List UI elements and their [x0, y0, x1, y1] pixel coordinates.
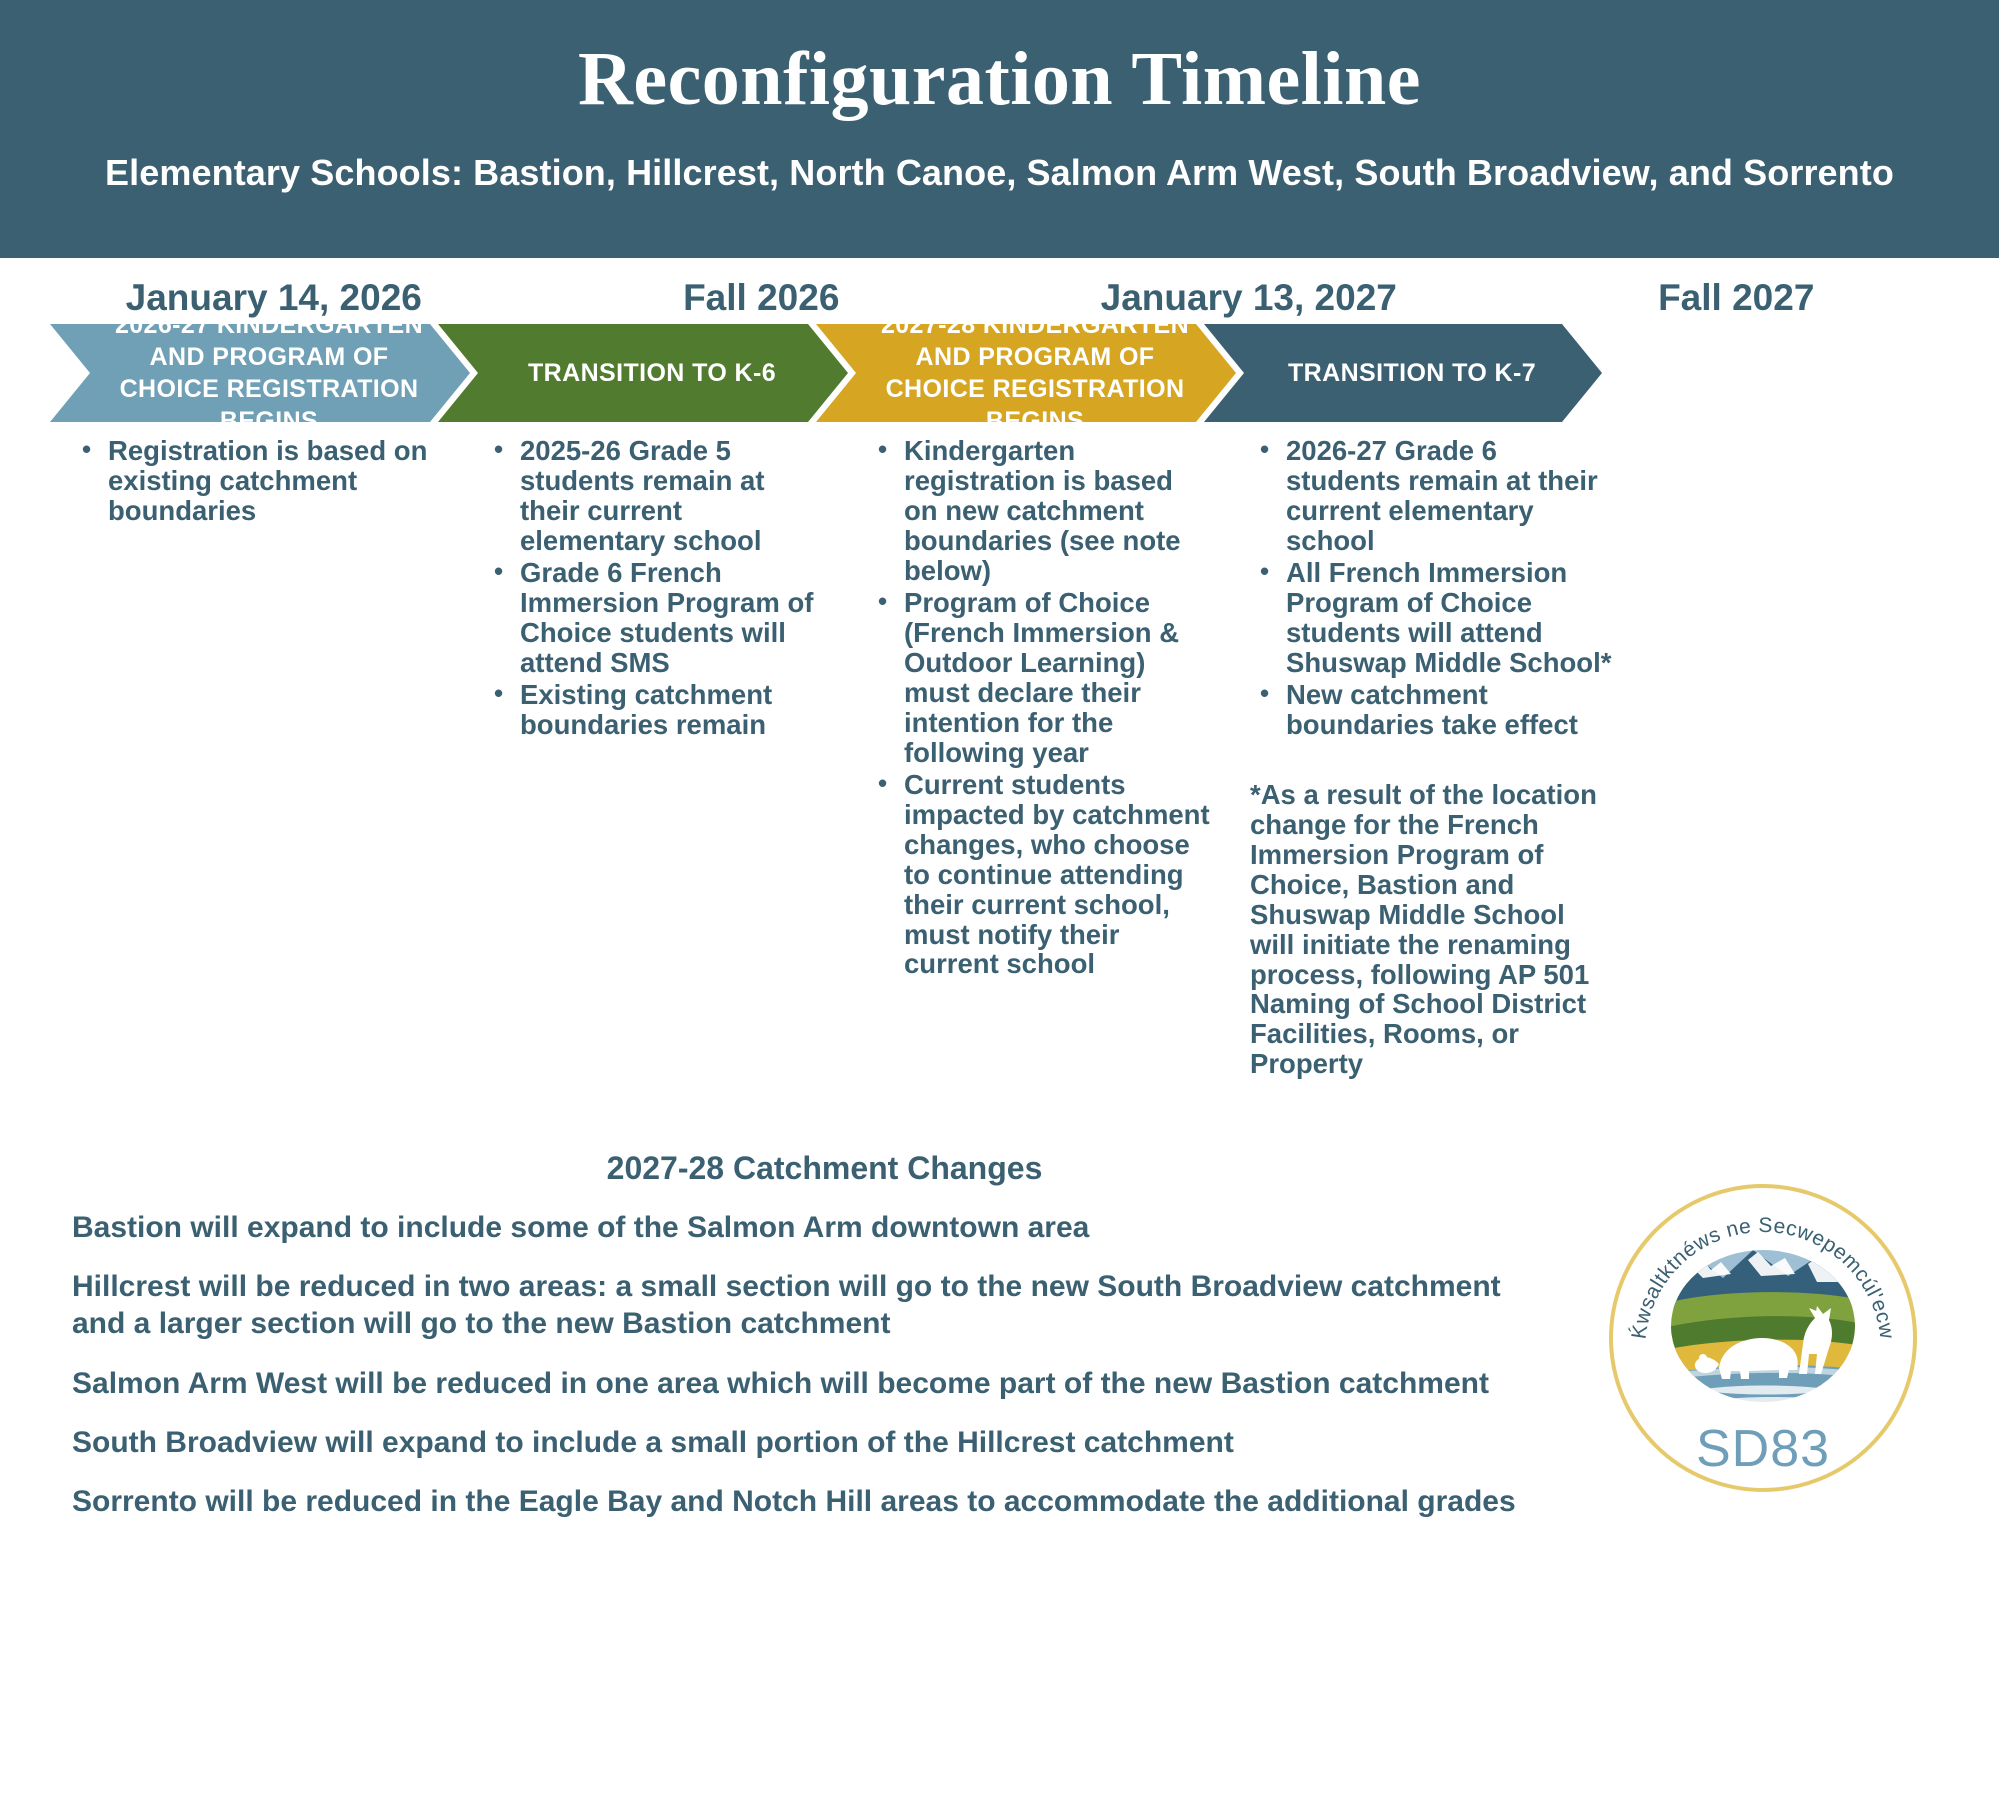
- list-item: Kindergarten registration is based on ne…: [868, 436, 1212, 586]
- list-item: Registration is based on existing catchm…: [72, 436, 444, 526]
- timeline-bullets-3: Kindergarten registration is based on ne…: [868, 436, 1212, 979]
- timeline-dates-row: January 14, 2026 Fall 2026 January 13, 2…: [30, 258, 1980, 316]
- list-item: Grade 6 French Immersion Program of Choi…: [484, 558, 828, 678]
- timeline-columns: Registration is based on existing catchm…: [0, 436, 1999, 1079]
- timeline-arrow-label-2: TRANSITION TO K-6: [528, 357, 776, 389]
- timeline-arrow-stage-2: TRANSITION TO K-6: [438, 324, 848, 422]
- list-item: All French Immersion Program of Choice s…: [1250, 558, 1614, 678]
- catchment-item: South Broadview will expand to include a…: [72, 1424, 1560, 1461]
- list-item: New catchment boundaries take effect: [1250, 680, 1614, 740]
- timeline-bullets-2: 2025-26 Grade 5 students remain at their…: [484, 436, 828, 740]
- timeline-date-3: January 13, 2027: [1005, 279, 1493, 316]
- timeline-date-2: Fall 2026: [518, 279, 1006, 316]
- timeline-arrows-row: 2026-27 KINDERGARTEN AND PROGRAM OF CHOI…: [0, 324, 1999, 422]
- list-item: Program of Choice (French Immersion & Ou…: [868, 588, 1212, 768]
- list-item: 2025-26 Grade 5 students remain at their…: [484, 436, 828, 556]
- sd83-logo-icon: Ḱwsaltktnéws ne Secwepemcúl'ecw SD83: [1603, 1178, 1923, 1498]
- timeline-column-1: Registration is based on existing catchm…: [58, 436, 458, 528]
- timeline-arrow-stage-3: 2027-28 KINDERGARTEN AND PROGRAM OF CHOI…: [816, 324, 1236, 422]
- catchment-item: Hillcrest will be reduced in two areas: …: [72, 1268, 1560, 1342]
- list-item: Current students impacted by catchment c…: [868, 770, 1212, 980]
- reconfiguration-timeline: January 14, 2026 Fall 2026 January 13, 2…: [0, 258, 1999, 1803]
- timeline-arrow-label-1: 2026-27 KINDERGARTEN AND PROGRAM OF CHOI…: [102, 309, 436, 437]
- list-item: Existing catchment boundaries remain: [484, 680, 828, 740]
- sd83-logo: Ḱwsaltktnéws ne Secwepemcúl'ecw SD83: [1603, 1178, 1923, 1498]
- catchment-list: Bastion will expand to include some of t…: [0, 1209, 1560, 1520]
- page-subtitle: Elementary Schools: Bastion, Hillcrest, …: [0, 152, 1999, 194]
- logo-district-code: SD83: [1696, 1420, 1830, 1478]
- page-title: Reconfiguration Timeline: [0, 38, 1999, 122]
- catchment-item: Sorrento will be reduced in the Eagle Ba…: [72, 1483, 1560, 1520]
- timeline-arrow-label-3: 2027-28 KINDERGARTEN AND PROGRAM OF CHOI…: [868, 309, 1202, 437]
- timeline-bullets-4: 2026-27 Grade 6 students remain at their…: [1250, 436, 1614, 740]
- timeline-column-4: 2026-27 Grade 6 students remain at their…: [1236, 436, 1628, 1079]
- page-header: Reconfiguration Timeline Elementary Scho…: [0, 0, 1999, 258]
- timeline-arrow-stage-1: 2026-27 KINDERGARTEN AND PROGRAM OF CHOI…: [50, 324, 470, 422]
- catchment-item: Bastion will expand to include some of t…: [72, 1209, 1560, 1246]
- timeline-arrow-stage-4: TRANSITION TO K-7: [1204, 324, 1602, 422]
- timeline-date-4: Fall 2027: [1493, 279, 1981, 316]
- catchment-item: Salmon Arm West will be reduced in one a…: [72, 1365, 1560, 1402]
- timeline-bullets-1: Registration is based on existing catchm…: [72, 436, 444, 526]
- timeline-footnote: *As a result of the location change for …: [1250, 780, 1614, 1080]
- timeline-column-2: 2025-26 Grade 5 students remain at their…: [470, 436, 842, 742]
- list-item: 2026-27 Grade 6 students remain at their…: [1250, 436, 1614, 556]
- timeline-date-1: January 14, 2026: [30, 279, 518, 316]
- timeline-arrow-label-4: TRANSITION TO K-7: [1288, 357, 1536, 389]
- timeline-column-3: Kindergarten registration is based on ne…: [854, 436, 1226, 981]
